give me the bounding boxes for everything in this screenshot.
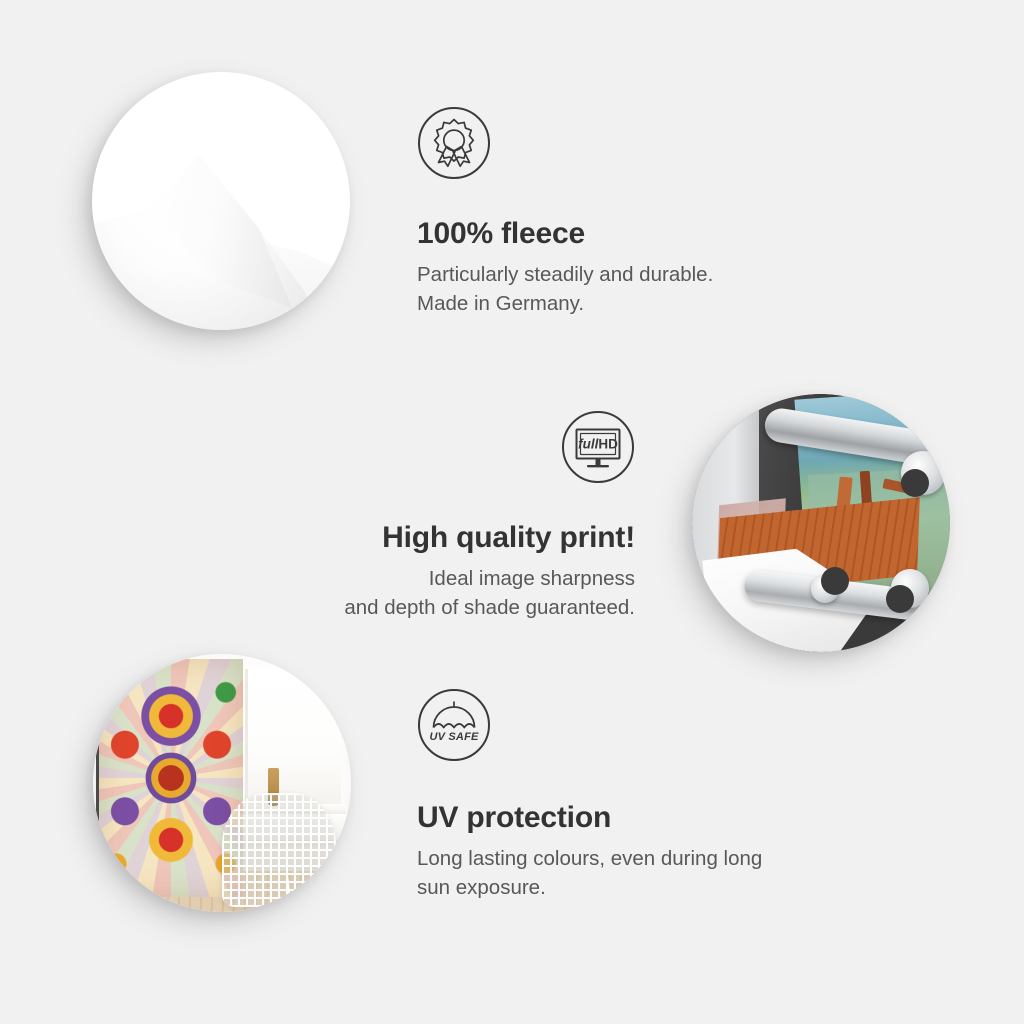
fullhd-label-regular: HD: [598, 437, 618, 452]
fullhd-label: fullHD: [578, 437, 618, 452]
infographic-stage: 100% fleece Particularly steadily and du…: [0, 0, 1024, 1024]
feature-title: 100% fleece: [417, 217, 887, 251]
chair-leg-1: [307, 877, 313, 906]
feature-description: Long lasting colours, even during long s…: [417, 844, 887, 902]
photo-clip: [692, 394, 950, 652]
feature-title: High quality print!: [255, 521, 635, 555]
room-window: [245, 669, 341, 813]
large-format-printer-photo: [692, 394, 950, 652]
feature-title: UV protection: [417, 801, 887, 835]
feature-description: Particularly steadily and durable. Made …: [417, 260, 887, 318]
uv-safe-umbrella-icon: UV SAFE: [417, 688, 887, 762]
feature-block-uv: UV SAFE UV protection Long lasting colou…: [417, 688, 887, 902]
uv-safe-label: UV SAFE: [429, 731, 479, 743]
feature-description: Ideal image sharpness and depth of shade…: [255, 564, 635, 622]
mandala-wall-mural: [96, 659, 243, 896]
photo-clip: [92, 72, 350, 330]
fullhd-label-italic: full: [578, 437, 598, 452]
photo-clip: [93, 654, 351, 912]
feature-block-fleece: 100% fleece Particularly steadily and du…: [417, 106, 887, 318]
printer-knob-dot-2: [886, 585, 914, 613]
peeled-fleece-wallpaper-photo: [92, 72, 350, 330]
chair-leg-2: [286, 877, 292, 907]
feature-block-print: fullHD High quality print! Ideal image s…: [255, 410, 635, 622]
award-rosette-icon: [417, 106, 887, 180]
mandala-mural-interior-photo: [93, 654, 351, 912]
wire-mesh-chair: [222, 793, 336, 907]
fullhd-monitor-icon: fullHD: [255, 410, 635, 484]
